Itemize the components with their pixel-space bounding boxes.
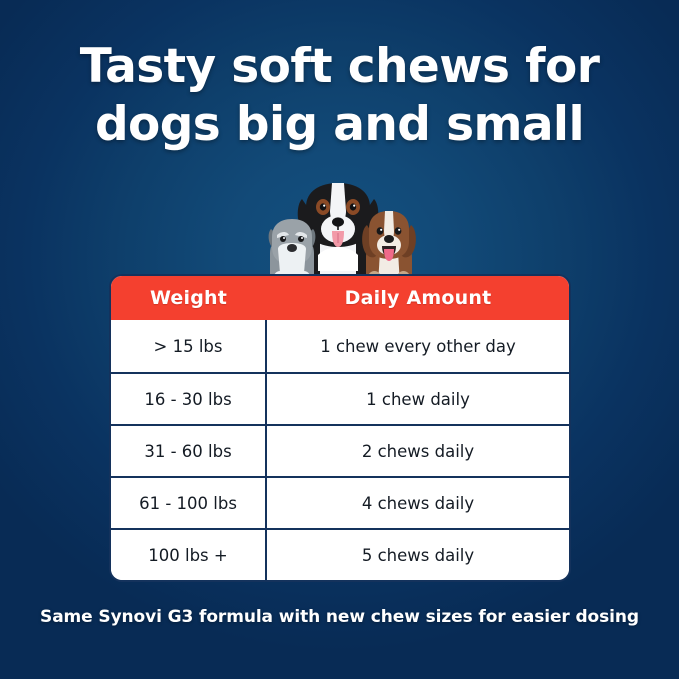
cell-daily-amount: 1 chew every other day [267,320,569,372]
column-header-weight: Weight [111,276,267,320]
headline-line-1: Tasty soft chews for [0,38,679,96]
cell-weight: 100 lbs + [111,528,267,580]
cell-daily-amount: 4 chews daily [267,476,569,528]
cell-weight: > 15 lbs [111,320,267,372]
cell-weight: 31 - 60 lbs [111,424,267,476]
column-header-daily-amount: Daily Amount [267,276,569,320]
footer-note: Same Synovi G3 formula with new chew siz… [0,607,679,627]
table-row: 61 - 100 lbs 4 chews daily [111,476,569,528]
cell-daily-amount: 2 chews daily [267,424,569,476]
product-infographic: Tasty soft chews for dogs big and small [0,0,679,679]
page-title: Tasty soft chews for dogs big and small [0,38,679,154]
cell-daily-amount: 1 chew daily [267,372,569,424]
cell-weight: 61 - 100 lbs [111,476,267,528]
headline-line-2: dogs big and small [0,96,679,154]
table-row: > 15 lbs 1 chew every other day [111,320,569,372]
table-header-row: Weight Daily Amount [111,276,569,320]
cell-weight: 16 - 30 lbs [111,372,267,424]
dosing-chart: Weight Daily Amount > 15 lbs 1 chew ever… [109,274,571,582]
table-row: 100 lbs + 5 chews daily [111,528,569,580]
table-row: 31 - 60 lbs 2 chews daily [111,424,569,476]
three-dogs-illustration [262,181,422,285]
table-row: 16 - 30 lbs 1 chew daily [111,372,569,424]
cell-daily-amount: 5 chews daily [267,528,569,580]
